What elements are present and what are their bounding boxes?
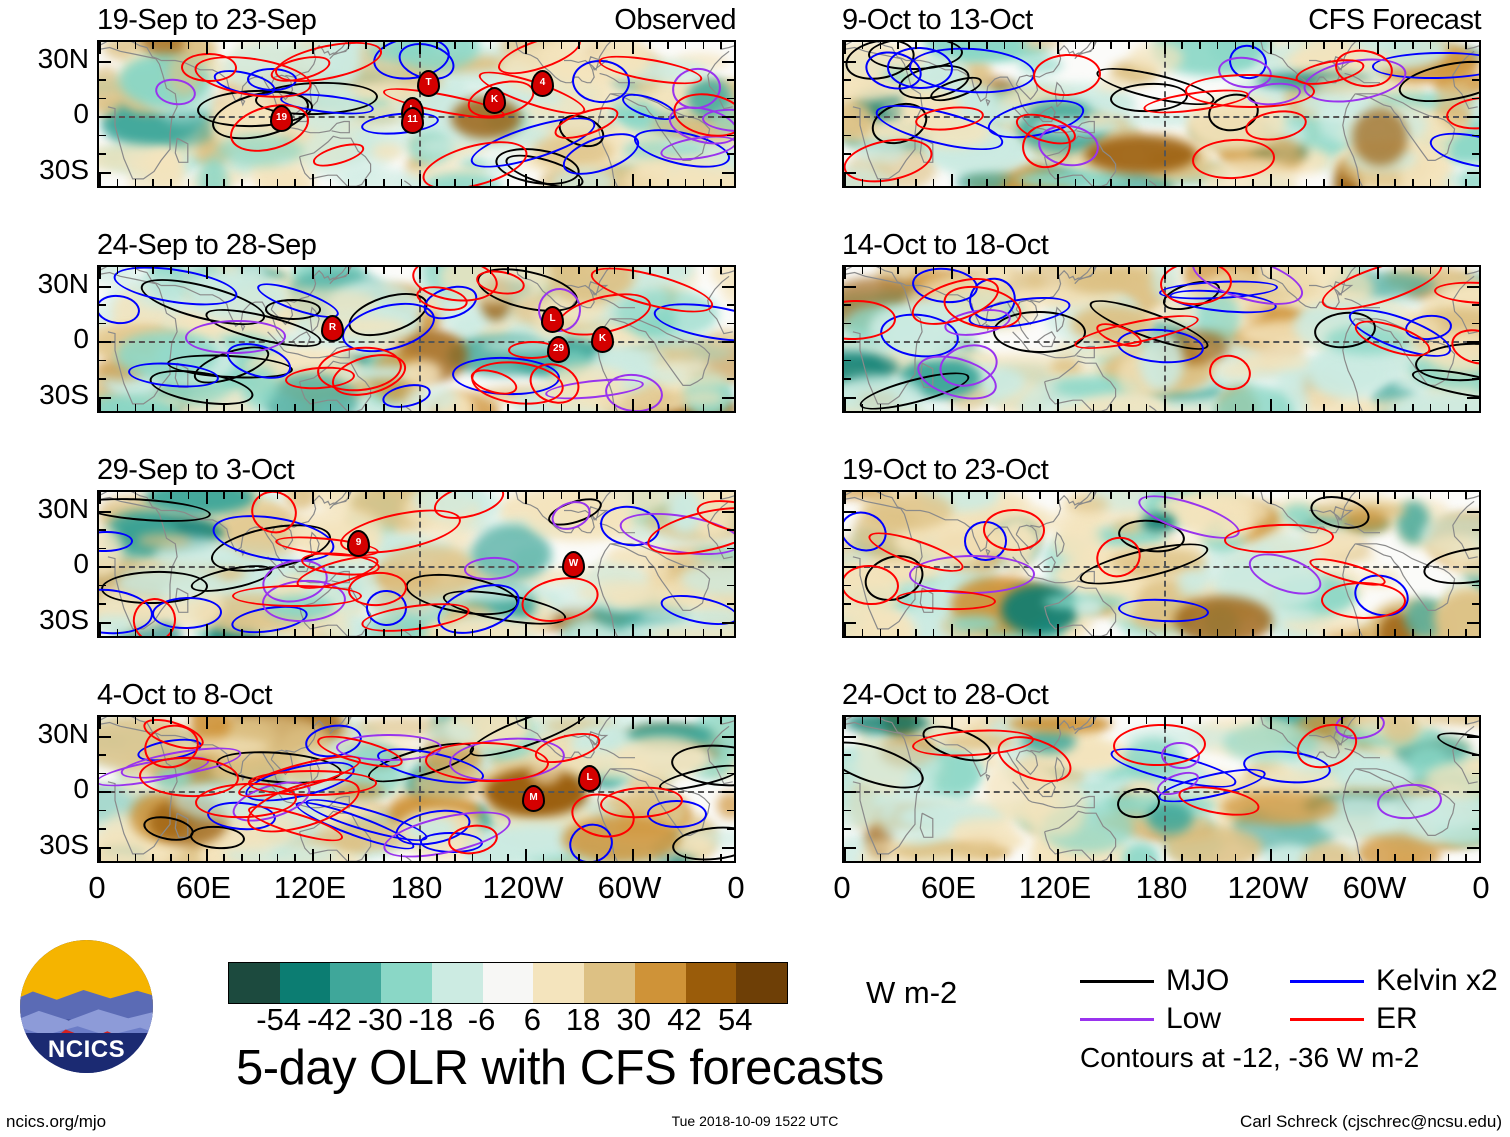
footer-link[interactable]: ncics.org/mjo [6,1113,106,1130]
axis-tick [1199,629,1201,636]
axis-tick [401,492,403,499]
axis-tick [294,492,296,499]
axis-tick [419,399,421,411]
axis-tick [1341,179,1343,186]
axis-tick [507,42,509,49]
axis-tick [1128,404,1130,411]
axis-tick [1270,492,1272,504]
axis-tick [1394,492,1396,499]
axis-tick [1467,286,1479,288]
y-axis-label: 30S [5,381,89,409]
axis-tick [223,717,225,724]
map-plot-area[interactable]: 29KLR [97,265,736,413]
axis-tick [933,492,935,499]
axis-tick [1412,42,1414,49]
storm-marker: R [321,315,344,342]
axis-tick [844,529,851,531]
axis-tick [915,404,917,411]
axis-tick [649,717,651,724]
colorbar-tick: 30 [617,1004,651,1035]
axis-tick [525,174,527,186]
axis-tick [844,791,856,793]
axis-tick [454,404,456,411]
axis-tick [525,849,527,861]
axis-tick [933,717,935,724]
axis-tick [1199,404,1201,411]
axis-tick [1430,492,1432,499]
axis-tick [312,399,314,411]
axis-tick [1472,754,1479,756]
axis-tick [330,267,332,274]
axis-tick [1199,717,1201,724]
axis-tick [727,323,734,325]
axis-tick [727,304,734,306]
axis-tick [223,42,225,49]
er-contour [232,585,362,607]
axis-tick [862,42,864,49]
axis-tick [383,267,385,274]
axis-tick [703,629,705,636]
axis-tick [720,629,722,636]
axis-tick [862,854,864,861]
axis-tick [968,629,970,636]
axis-tick [578,404,580,411]
axis-tick [543,629,545,636]
axis-tick [348,267,350,274]
axis-tick [436,42,438,49]
panel-corner-label: CFS Forecast [1308,6,1481,35]
storm-marker: 11 [401,107,424,134]
axis-tick [1377,849,1379,861]
axis-tick [897,179,899,186]
axis-tick [99,116,111,118]
axis-tick [152,629,154,636]
axis-tick [667,492,669,499]
axis-tick [436,404,438,411]
axis-tick [915,42,917,49]
axis-tick [720,404,722,411]
axis-tick [1252,629,1254,636]
axis-tick [649,404,651,411]
axis-tick [1217,404,1219,411]
colorbar-tick: -18 [408,1004,453,1035]
axis-tick [99,360,106,362]
axis-tick [188,404,190,411]
colorbar-swatch [330,963,381,1003]
er-contour [1321,581,1407,619]
axis-tick [596,42,598,49]
axis-tick [206,267,208,279]
axis-tick [259,854,261,861]
axis-tick [383,629,385,636]
axis-tick [206,849,208,861]
axis-tick [1394,42,1396,49]
axis-tick [1146,404,1148,411]
axis-tick [259,42,261,49]
map-plot-area[interactable]: W9 [97,490,736,638]
x-axis-label: 120E [1019,872,1091,903]
axis-tick [1057,492,1059,504]
axis-tick [1022,629,1024,636]
axis-tick [862,717,864,724]
axis-tick [844,810,851,812]
axis-tick [294,717,296,724]
olr-shading-blob [994,833,1026,849]
y-axis-label: 0 [5,100,89,128]
axis-tick [844,511,856,513]
axis-tick [1039,267,1041,274]
axis-tick [933,404,935,411]
axis-tick [727,360,734,362]
axis-tick [1093,629,1095,636]
axis-tick [99,810,106,812]
axis-tick [1004,717,1006,724]
axis-tick [1472,135,1479,137]
axis-tick [490,629,492,636]
axis-tick [1252,179,1254,186]
axis-tick [685,717,687,724]
axis-tick [99,79,106,81]
axis-tick [99,135,106,137]
axis-tick [685,404,687,411]
axis-tick [614,492,616,499]
axis-tick [99,773,106,775]
legend-label-er: ER [1376,1004,1418,1034]
axis-tick [188,854,190,861]
panel-title: 19-Sep to 23-Sep [97,6,316,35]
axis-tick [525,42,527,54]
axis-tick [727,603,734,605]
colorbar-swatch [584,963,635,1003]
axis-tick [99,492,101,504]
axis-tick [632,174,634,186]
axis-tick [152,179,154,186]
axis-tick [1430,854,1432,861]
axis-tick [986,717,988,724]
axis-tick [454,267,456,274]
axis-tick [223,854,225,861]
axis-tick [312,717,314,729]
axis-tick [1465,267,1467,274]
axis-tick [543,492,545,499]
x-axis-label: 60W [1343,872,1407,903]
axis-tick [99,42,101,54]
axis-tick [117,854,119,861]
axis-tick [1341,404,1343,411]
axis-tick [561,492,563,499]
axis-tick [968,717,970,724]
axis-tick [1039,404,1041,411]
axis-tick [933,267,935,274]
axis-tick [117,179,119,186]
axis-tick [223,492,225,499]
axis-tick [1377,399,1379,411]
axis-tick [1093,492,1095,499]
axis-tick [259,629,261,636]
olr-shading-blob [1016,170,1130,188]
axis-tick [259,492,261,499]
axis-tick [419,624,421,636]
axis-tick [490,179,492,186]
axis-tick [1217,267,1219,274]
map-plot-area[interactable] [842,265,1481,413]
axis-tick [365,629,367,636]
axis-tick [188,492,190,499]
axis-tick [1057,717,1059,729]
axis-tick [401,854,403,861]
axis-tick [596,717,598,724]
axis-tick [649,854,651,861]
panel-p5: 9-Oct to 13-OctCFS Forecast [842,6,1481,188]
axis-tick [543,717,545,724]
axis-tick [632,399,634,411]
axis-tick [1323,854,1325,861]
axis-tick [1075,42,1077,49]
axis-tick [703,42,705,49]
axis-tick [1039,179,1041,186]
olr-shading-blob [1311,349,1387,399]
axis-tick [1448,629,1450,636]
axis-tick [578,629,580,636]
axis-tick [1412,717,1414,724]
axis-tick [897,404,899,411]
axis-tick [277,404,279,411]
axis-tick [880,717,882,724]
x-axis-label: 60E [176,872,231,903]
axis-tick [135,267,137,274]
axis-tick [1110,854,1112,861]
axis-tick [99,399,101,411]
axis-tick [1341,42,1343,49]
axis-tick [915,267,917,274]
axis-tick [152,404,154,411]
axis-tick [277,492,279,499]
ncics-logo: NCICS [20,940,153,1073]
axis-tick [632,849,634,861]
axis-tick [454,854,456,861]
axis-tick [294,404,296,411]
axis-tick [1412,179,1414,186]
axis-tick [667,42,669,49]
axis-tick [722,172,734,174]
x-axis-label: 180 [391,872,443,903]
axis-tick [1448,404,1450,411]
axis-tick [1128,717,1130,724]
axis-tick [490,42,492,49]
map-plot-area[interactable] [842,715,1481,863]
axis-tick [99,511,111,513]
map-plot-area[interactable]: LM [97,715,736,863]
storm-marker: 9 [347,530,370,557]
olr-shading-blob [372,143,403,160]
axis-tick [543,42,545,49]
axis-tick [135,492,137,499]
axis-tick [1306,179,1308,186]
axis-tick [614,717,616,724]
axis-tick [135,854,137,861]
x-axis-label: 120W [1228,872,1309,903]
panel-title: 4-Oct to 8-Oct [97,681,272,710]
axis-tick [170,629,172,636]
axis-tick [844,717,846,729]
axis-tick [1110,629,1112,636]
axis-tick [1093,854,1095,861]
colorbar-swatch [280,963,331,1003]
axis-tick [348,179,350,186]
axis-tick [1146,854,1148,861]
axis-tick [330,404,332,411]
axis-tick [1181,717,1183,724]
axis-tick [543,404,545,411]
axis-tick [844,267,846,279]
axis-tick [1323,42,1325,49]
axis-tick [880,854,882,861]
axis-tick [844,286,856,288]
axis-tick [1323,179,1325,186]
axis-tick [614,404,616,411]
axis-tick [365,492,367,499]
axis-tick [614,267,616,274]
axis-tick [1465,492,1467,499]
axis-tick [1022,492,1024,499]
axis-tick [1465,717,1467,724]
axis-tick [685,179,687,186]
axis-tick [667,404,669,411]
axis-tick [561,717,563,724]
footer-author: Carl Schreck (cjschrec@ncsu.edu) [1240,1113,1502,1130]
map-plot-area[interactable] [842,490,1481,638]
axis-tick [1359,267,1361,274]
axis-tick [578,42,580,49]
axis-tick [561,42,563,49]
axis-tick [99,529,106,531]
axis-tick [117,267,119,274]
axis-tick [844,304,851,306]
axis-tick [1288,179,1290,186]
er-contour [982,508,1044,551]
axis-tick [99,849,101,861]
axis-tick [1359,404,1361,411]
axis-tick [1288,492,1290,499]
axis-tick [436,492,438,499]
axis-tick [897,42,899,49]
axis-tick [1217,854,1219,861]
axis-tick [986,492,988,499]
legend-note: Contours at -12, -36 W m-2 [1080,1044,1419,1072]
axis-tick [436,629,438,636]
axis-tick [1430,629,1432,636]
low-line-icon [1080,1018,1154,1021]
axis-tick [1235,404,1237,411]
axis-tick [170,267,172,274]
axis-tick [722,116,734,118]
axis-tick [507,492,509,499]
axis-tick [330,854,332,861]
axis-tick [472,42,474,49]
axis-tick [259,717,261,724]
panel-title: 24-Oct to 28-Oct [842,681,1048,710]
axis-tick [720,717,722,724]
axis-tick [117,717,119,724]
axis-tick [1288,404,1290,411]
axis-tick [1306,492,1308,499]
axis-tick [844,773,851,775]
axis-tick [241,179,243,186]
axis-tick [99,847,111,849]
axis-tick [152,854,154,861]
colorbar-tick-labels: -54-42-30-18-6618304254 [228,1004,786,1042]
axis-tick [1394,854,1396,861]
storm-marker: 29 [547,336,570,363]
axis-tick [1004,42,1006,49]
axis-tick [1377,624,1379,636]
axis-tick [1341,717,1343,724]
axis-tick [348,854,350,861]
axis-tick [667,854,669,861]
map-plot-area[interactable] [842,40,1481,188]
axis-tick [1359,492,1361,499]
axis-tick [1359,717,1361,724]
axis-tick [722,286,734,288]
axis-tick [1235,42,1237,49]
axis-tick [703,267,705,274]
axis-tick [1252,717,1254,724]
axis-tick [1004,267,1006,274]
colorbar-tick: -30 [358,1004,403,1035]
axis-tick [1146,267,1148,274]
axis-tick [844,548,851,550]
axis-tick [880,629,882,636]
legend-label-mjo: MJO [1166,966,1229,996]
axis-tick [401,42,403,49]
axis-tick [419,174,421,186]
axis-tick [259,179,261,186]
axis-tick [951,399,953,411]
olr-shading-blob [845,715,930,734]
axis-tick [117,42,119,49]
legend-row-2: Low ER [1080,1000,1500,1038]
axis-tick [727,153,734,155]
axis-tick [720,267,722,274]
axis-tick [578,854,580,861]
axis-tick [1472,828,1479,830]
axis-tick [1448,492,1450,499]
axis-tick [880,267,882,274]
axis-tick [277,42,279,49]
axis-tick [1093,267,1095,274]
axis-tick [1057,849,1059,861]
axis-tick [1472,810,1479,812]
axis-tick [1377,174,1379,186]
axis-tick [1110,179,1112,186]
axis-tick [99,174,101,186]
axis-tick [1075,404,1077,411]
axis-tick [1394,717,1396,724]
axis-tick [1057,624,1059,636]
map-plot-area[interactable]: 4T19L11K [97,40,736,188]
axis-tick [933,629,935,636]
colorbar-units-label: W m-2 [866,975,957,1011]
axis-tick [1039,717,1041,724]
axis-tick [968,267,970,274]
axis-tick [472,404,474,411]
colorbar-tick: 42 [667,1004,701,1035]
axis-tick [720,492,722,499]
axis-tick [1472,529,1479,531]
axis-tick [490,854,492,861]
axis-tick [1465,629,1467,636]
axis-tick [1359,854,1361,861]
